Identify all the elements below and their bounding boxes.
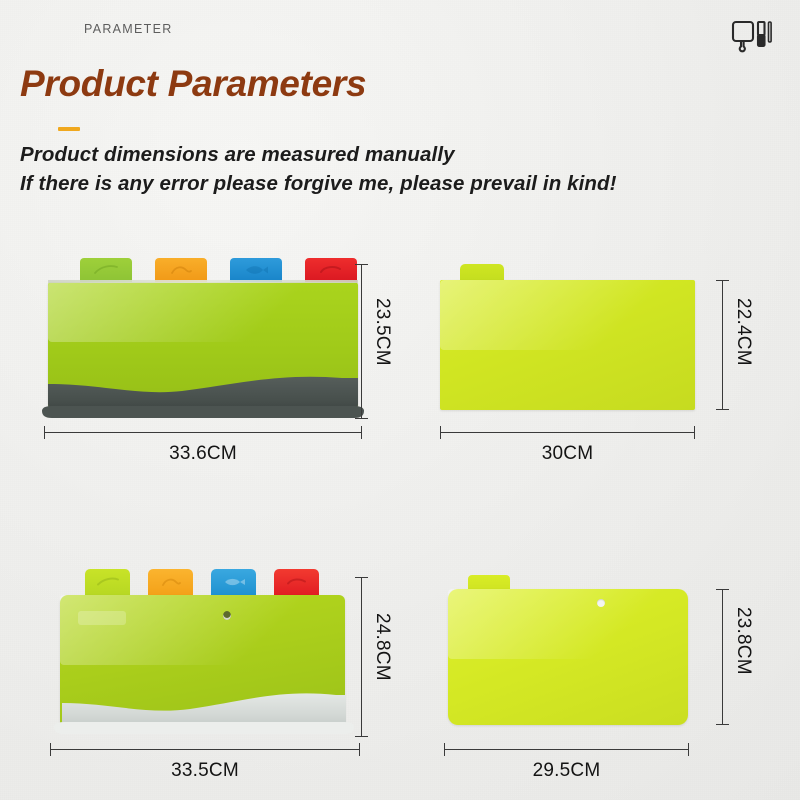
holder-base-dark: [42, 360, 364, 420]
figure-board-set-light-holder: 33.5CM 24.8CM: [30, 555, 390, 790]
height-dimension-line: [355, 577, 369, 737]
width-dimension-label: 33.6CM: [44, 443, 362, 465]
hanging-hole: [597, 599, 605, 607]
width-dimension-line: [44, 426, 362, 440]
width-dimension-line: [440, 426, 695, 440]
chicken-icon: [169, 264, 193, 276]
tab-blue: [211, 569, 256, 597]
title-accent-rule: [58, 127, 80, 131]
page-header: PARAMETER Product Parameters Product dim…: [0, 0, 800, 210]
tab-green: [85, 569, 130, 597]
width-dimension-label: 29.5CM: [444, 760, 689, 782]
subtitle-line-2: If there is any error please forgive me,…: [20, 172, 617, 196]
height-dimension-line: [355, 264, 369, 419]
cutting-board-single: [440, 280, 695, 410]
width-dimension-line: [50, 743, 360, 757]
width-dimension-label: 33.5CM: [50, 760, 360, 782]
height-dimension-line: [716, 280, 730, 410]
vegetable-icon: [93, 264, 119, 276]
board-sheen: [448, 589, 688, 659]
figure-single-board-hole: 29.5CM 23.8CM: [420, 555, 780, 790]
chicken-icon: [160, 576, 182, 588]
hanging-hole: [223, 611, 231, 620]
board-stack-edge: [48, 280, 358, 283]
height-dimension-line: [716, 589, 730, 725]
width-dimension-line: [444, 743, 689, 757]
product-parameters-page: PARAMETER Product Parameters Product dim…: [0, 0, 800, 800]
subtitle-line-1: Product dimensions are measured manually: [20, 143, 455, 167]
board-sheen: [60, 595, 345, 665]
fish-icon: [222, 577, 246, 587]
meat-icon: [319, 264, 343, 276]
meat-icon: [286, 576, 308, 587]
fish-icon: [243, 264, 269, 275]
board-emboss-panel: [78, 611, 126, 625]
vegetable-icon: [96, 576, 120, 587]
figure-single-board-tab: 30CM 22.4CM: [420, 240, 780, 475]
width-dimension-label: 30CM: [440, 443, 695, 465]
height-dimension-label: 22.4CM: [732, 298, 754, 366]
height-dimension-label: 24.8CM: [371, 613, 393, 681]
cutting-board-single: [448, 589, 688, 725]
cutting-board-knife-icon: [730, 18, 774, 56]
tab-red: [274, 569, 319, 597]
holder-base-light: [54, 675, 354, 737]
board-sheen: [440, 280, 695, 350]
figure-board-set-dark-holder: 33.6CM 23.5CM: [30, 240, 390, 475]
page-title: Product Parameters: [20, 63, 366, 105]
tab-orange: [148, 569, 193, 597]
height-dimension-label: 23.5CM: [371, 298, 393, 366]
height-dimension-label: 23.8CM: [732, 607, 754, 675]
eyebrow-label: PARAMETER: [84, 22, 173, 36]
board-sheen: [48, 282, 358, 342]
